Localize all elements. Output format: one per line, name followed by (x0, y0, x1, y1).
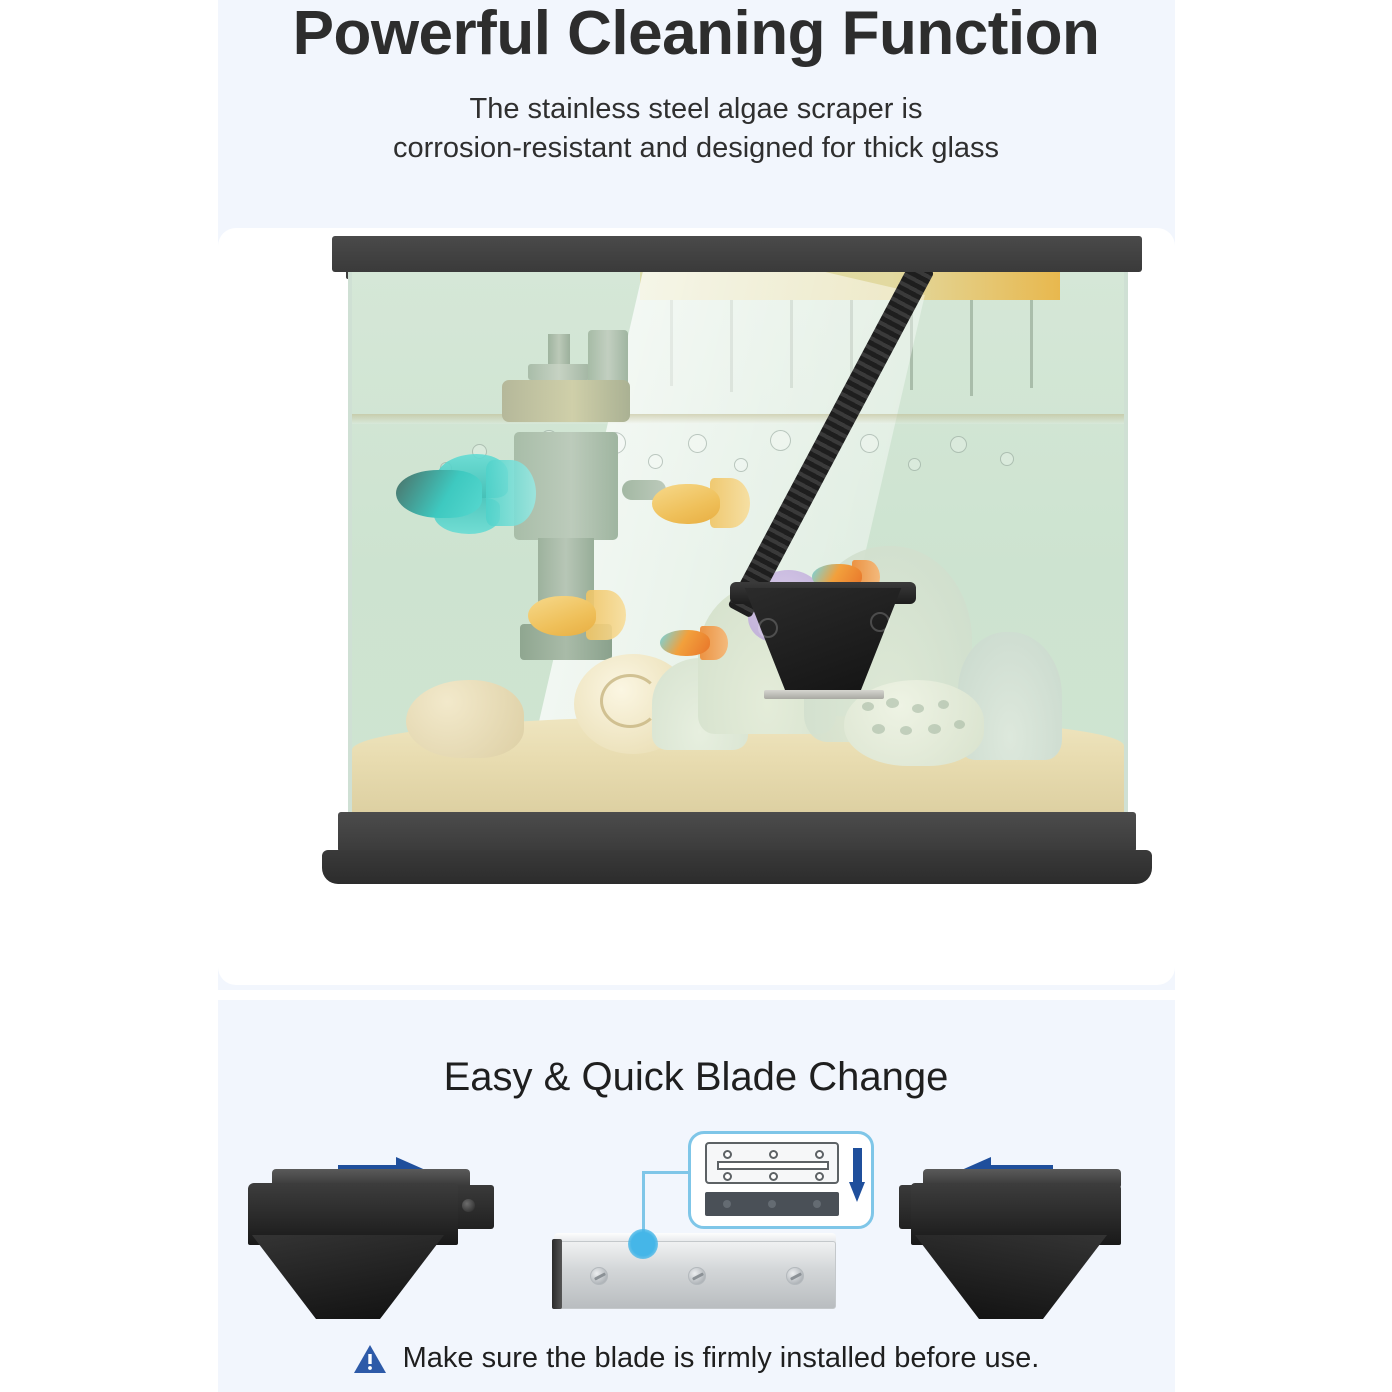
tank-glass-water (348, 272, 1128, 812)
tank-stand (322, 850, 1152, 884)
arrow-head (849, 1182, 865, 1202)
scraper-head-slide-in (893, 1149, 1163, 1309)
goldfish-lower (528, 590, 624, 642)
scraper-screw (462, 1199, 475, 1212)
blade-change-title: Easy & Quick Blade Change (0, 1055, 1392, 1100)
scraper-triangle (911, 1235, 1111, 1319)
water-stream (670, 300, 673, 386)
blade-plate-detail (688, 1131, 874, 1229)
page-subtitle: The stainless steel algae scraper is cor… (0, 66, 1392, 167)
scraper-head-slide-out (230, 1149, 500, 1309)
replacement-blade (705, 1192, 839, 1216)
plate-hole (815, 1150, 824, 1159)
rock (406, 680, 524, 758)
blade-clamp-plate (705, 1142, 839, 1184)
blade-change-panel (218, 1115, 1175, 1315)
blade-hole (723, 1200, 731, 1208)
scraper-handle (727, 272, 934, 618)
plate-slot (717, 1161, 829, 1170)
blade-hole (768, 1200, 776, 1208)
betta-fish (396, 454, 536, 536)
arrow-shaft (853, 1148, 862, 1184)
scraper-detail-hole (758, 618, 778, 638)
hero-photo-panel (218, 228, 1175, 985)
subtitle-line-2: corrosion-resistant and designed for thi… (393, 132, 999, 164)
tank-lid (332, 236, 1142, 272)
subtitle-line-1: The stainless steel algae scraper is (470, 93, 923, 125)
blade-hole (813, 1200, 821, 1208)
holder-screw (786, 1267, 804, 1285)
plate-hole (723, 1150, 732, 1159)
product-infographic-page: Powerful Cleaning Function The stainless… (0, 0, 1392, 1392)
fish-body (660, 630, 710, 656)
plate-hole (815, 1172, 824, 1181)
fish-body (528, 596, 596, 636)
scraper-triangle (248, 1235, 448, 1319)
aquarium-tank (322, 230, 1152, 890)
fish-tail (486, 460, 536, 526)
warning-text: Make sure the blade is firmly installed … (403, 1342, 1040, 1375)
page-title: Powerful Cleaning Function (0, 0, 1392, 66)
plate-hole (769, 1150, 778, 1159)
fish-body (396, 470, 482, 518)
header: Powerful Cleaning Function The stainless… (0, 0, 1392, 168)
arrow-down-icon (849, 1148, 865, 1204)
stainless-blade-holder (548, 1135, 878, 1315)
callout-marker-dot (628, 1229, 658, 1259)
holder-screw (688, 1267, 706, 1285)
scraper-blade-edge (764, 690, 884, 699)
plate-hole (723, 1172, 732, 1181)
filter-cap (502, 380, 630, 422)
scraper-detail-hole (870, 612, 890, 632)
filter-collar (528, 364, 590, 380)
holder-blade-edge (552, 1239, 562, 1309)
warning-triangle-icon (353, 1344, 387, 1374)
plate-hole (769, 1172, 778, 1181)
bubble (648, 454, 663, 469)
holder-screw (590, 1267, 608, 1285)
tank-base-frame (338, 812, 1136, 852)
scraper-head (734, 588, 912, 696)
algae-scraper-tool (704, 272, 1034, 736)
warning-note: Make sure the blade is firmly installed … (0, 1342, 1392, 1375)
